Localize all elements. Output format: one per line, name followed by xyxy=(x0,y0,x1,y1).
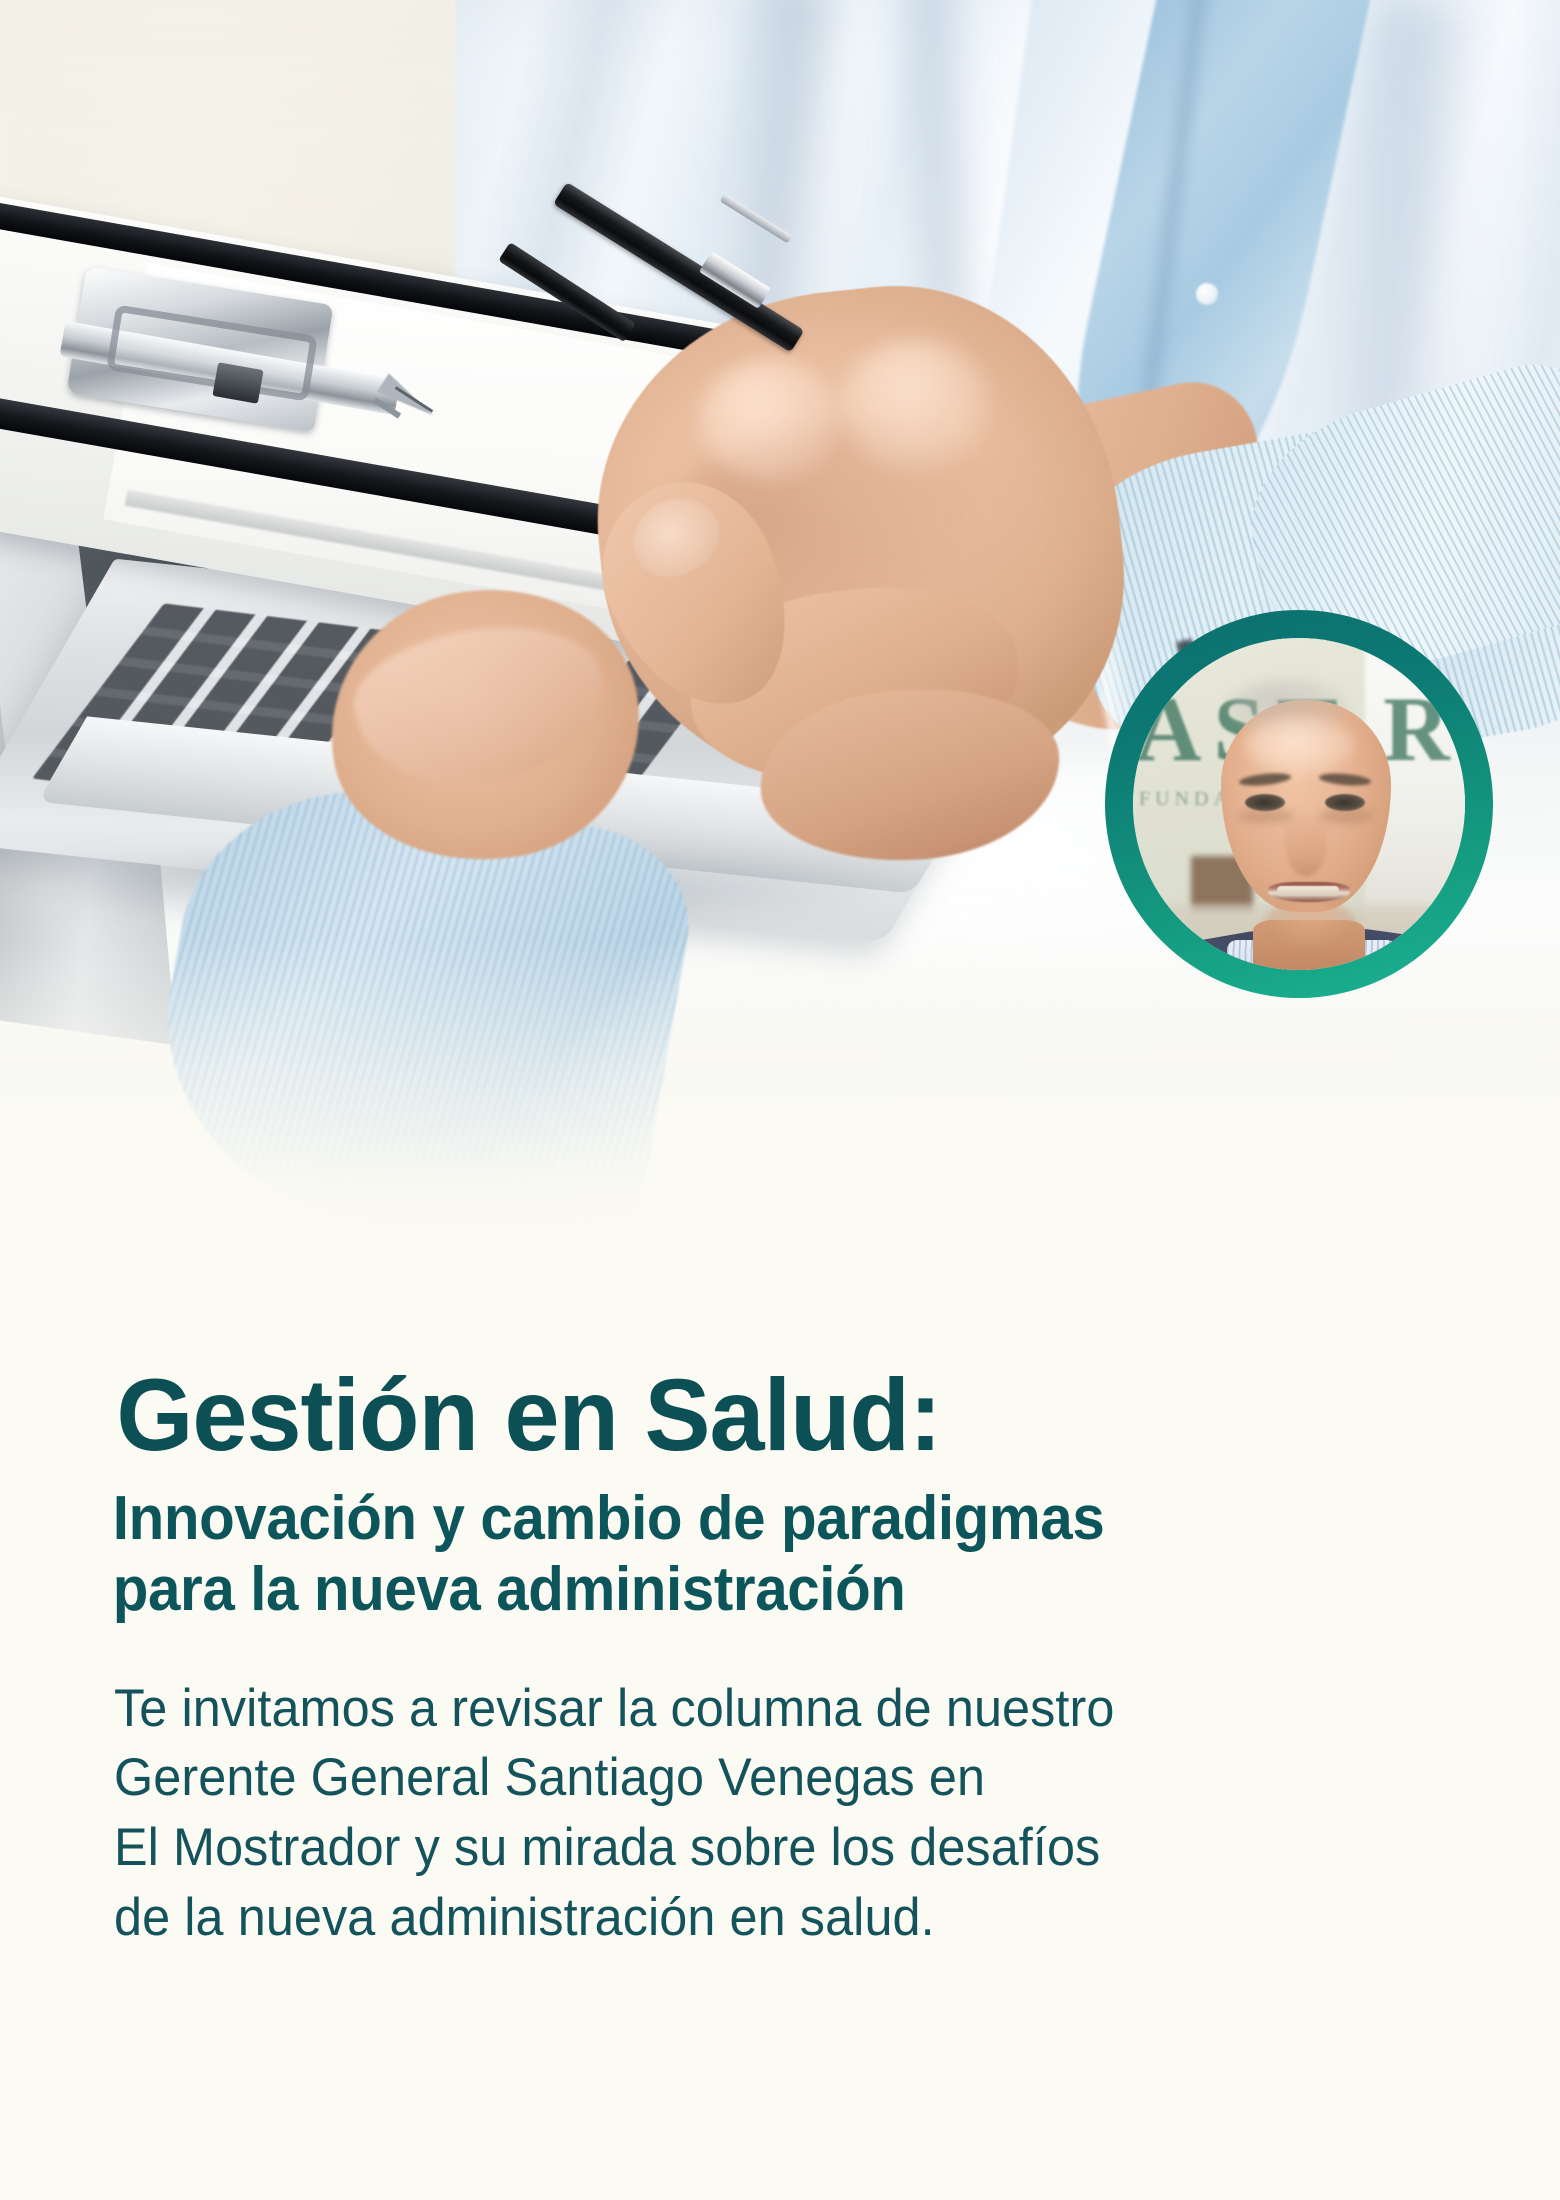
portrait-photo: AST R FUNDACION xyxy=(1133,638,1465,970)
poster-canvas: AST R FUNDACION Gestión en Salud xyxy=(0,0,1560,2200)
body-line-3: El Mostrador y su mirada sobre los desaf… xyxy=(114,1813,1482,1883)
body-line-1: Te invitamos a revisar la columna de nue… xyxy=(114,1674,1482,1744)
shirt-button xyxy=(1196,283,1218,305)
portrait-circle: AST R FUNDACION xyxy=(1105,610,1493,998)
portrait-chin xyxy=(1263,900,1357,952)
subtitle-line-2: para la nueva administración xyxy=(113,1555,1467,1626)
text-block: Gestión en Salud: Innovación y cambio de… xyxy=(0,1360,1560,1953)
knuckle-highlight-2 xyxy=(840,340,990,470)
page-title: Gestión en Salud: xyxy=(0,1360,1513,1470)
body-line-4: de la nueva administración en salud. xyxy=(114,1883,1482,1953)
subtitle-line-1: Innovación y cambio de paradigmas xyxy=(113,1484,1467,1555)
knuckle-highlight-1 xyxy=(700,360,840,480)
page-subtitle: Innovación y cambio de paradigmas para l… xyxy=(0,1484,1466,1625)
body-line-2: Gerente General Santiago Venegas en xyxy=(114,1743,1482,1813)
portrait-teeth xyxy=(1277,886,1339,896)
portrait-eye-left xyxy=(1245,794,1285,811)
body-paragraph: Te invitamos a revisar la columna de nue… xyxy=(0,1674,1482,1954)
portrait-forehead-highlight xyxy=(1245,716,1355,774)
portrait-eye-right xyxy=(1325,794,1365,811)
portrait-nose xyxy=(1285,810,1327,876)
